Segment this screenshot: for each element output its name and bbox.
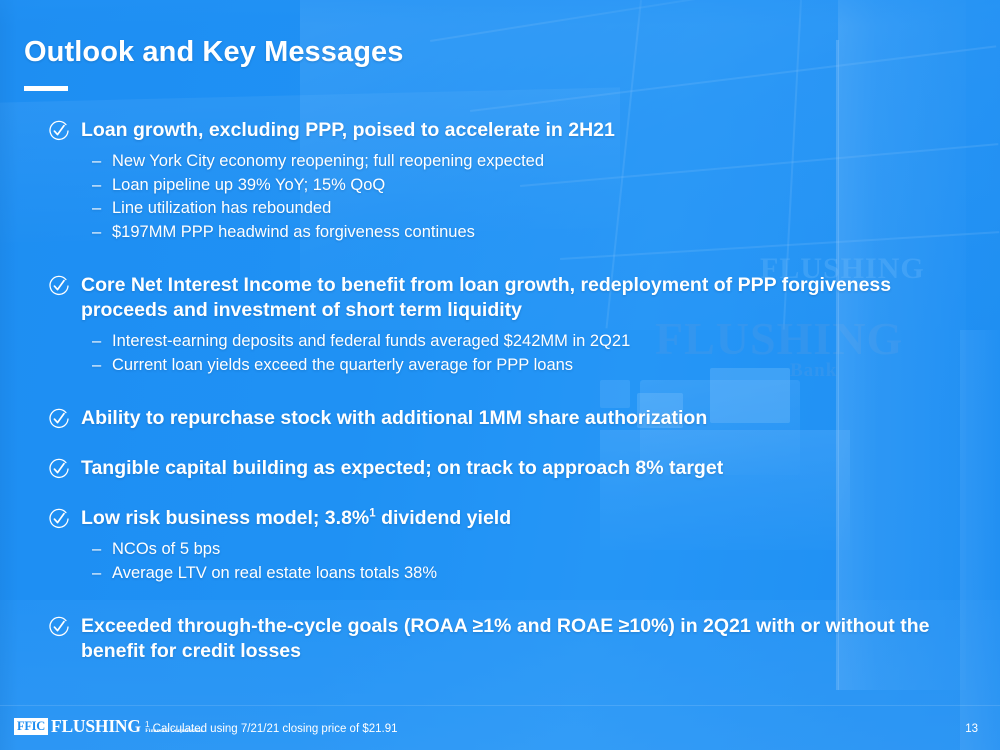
bullet-item: Loan growth, excluding PPP, poised to ac… [0,118,1000,143]
sub-bullet-item: –Average LTV on real estate loans totals… [0,562,1000,586]
bullet-text: Loan growth, excluding PPP, poised to ac… [81,118,615,143]
bullet-group-3: Ability to repurchase stock with additio… [0,406,1000,431]
logo-name: FLUSHING [51,716,141,736]
sub-bullet-item: –NCOs of 5 bps [0,538,1000,562]
bullet-text-part: Low risk business model; 3.8% [81,507,369,529]
check-circle-icon [48,616,70,638]
sub-bullet-list: –New York City economy reopening; full r… [0,150,1000,244]
page-number: 13 [965,722,978,736]
bullet-group-2: Core Net Interest Income to benefit from… [0,273,1000,377]
bullet-group-4: Tangible capital building as expected; o… [0,456,1000,481]
sub-bullet-text: $197MM PPP headwind as forgiveness conti… [112,223,475,241]
sub-bullet-text: Current loan yields exceed the quarterly… [112,356,573,374]
sub-bullet-item: –Interest-earning deposits and federal f… [0,330,1000,354]
bullet-group-6: Exceeded through-the-cycle goals (ROAA ≥… [0,614,1000,664]
slide-content: Outlook and Key Messages Loan growth, ex… [0,0,1000,750]
check-circle-icon [48,508,70,530]
bullet-item: Tangible capital building as expected; o… [0,456,1000,481]
footnote: 1 Calculated using 7/21/21 closing price… [145,722,398,736]
bullet-text: Core Net Interest Income to benefit from… [81,273,960,323]
sub-bullet-item: –New York City economy reopening; full r… [0,150,1000,174]
sub-bullet-list: –NCOs of 5 bps –Average LTV on real esta… [0,538,1000,585]
check-circle-icon [48,408,70,430]
sub-bullet-text: Average LTV on real estate loans totals … [112,564,437,582]
sub-bullet-text: NCOs of 5 bps [112,540,220,558]
bullet-group-1: Loan growth, excluding PPP, poised to ac… [0,118,1000,244]
check-circle-icon [48,120,70,142]
bullet-item: Exceeded through-the-cycle goals (ROAA ≥… [0,614,1000,664]
dash-marker: – [92,150,101,174]
sub-bullet-item: –$197MM PPP headwind as forgiveness cont… [0,221,1000,245]
spacer [0,481,1000,506]
footer-divider [0,705,1000,706]
bullet-text-part: dividend yield [376,507,511,529]
title-underline-rule [24,86,68,91]
bullet-text: Exceeded through-the-cycle goals (ROAA ≥… [81,614,960,664]
bullet-item: Ability to repurchase stock with additio… [0,406,1000,431]
dash-marker: – [92,197,101,221]
dash-marker: – [92,562,101,586]
dash-marker: – [92,354,101,378]
logo-ticker-badge: FFIC [14,718,48,735]
sub-bullet-text: New York City economy reopening; full re… [112,152,544,170]
bullet-item: Low risk business model; 3.8%1 dividend … [0,506,1000,531]
dash-marker: – [92,538,101,562]
bullet-text: Low risk business model; 3.8%1 dividend … [81,506,511,531]
sub-bullet-text: Loan pipeline up 39% YoY; 15% QoQ [112,176,385,194]
spacer [0,585,1000,614]
spacer [0,377,1000,406]
bullet-group-5: Low risk business model; 3.8%1 dividend … [0,506,1000,585]
dash-marker: – [92,174,101,198]
sub-bullet-text: Interest-earning deposits and federal fu… [112,332,630,350]
bullet-text: Tangible capital building as expected; o… [81,456,723,481]
page-title: Outlook and Key Messages [24,36,404,69]
sub-bullet-item: –Current loan yields exceed the quarterl… [0,354,1000,378]
bullet-item: Core Net Interest Income to benefit from… [0,273,1000,323]
slide-outlook-and-key-messages: FLUSHING FLUSHING Bank Outlook and Key M… [0,0,1000,750]
sub-bullet-item: –Loan pipeline up 39% YoY; 15% QoQ [0,174,1000,198]
check-circle-icon [48,275,70,297]
dash-marker: – [92,221,101,245]
spacer [0,431,1000,456]
spacer [0,244,1000,273]
sub-bullet-text: Line utilization has rebounded [112,199,331,217]
bullet-list: Loan growth, excluding PPP, poised to ac… [0,118,1000,664]
check-circle-icon [48,458,70,480]
dash-marker: – [92,330,101,354]
footnote-text: Calculated using 7/21/21 closing price o… [149,723,397,735]
sub-bullet-item: –Line utilization has rebounded [0,197,1000,221]
bullet-text: Ability to repurchase stock with additio… [81,406,707,431]
sub-bullet-list: –Interest-earning deposits and federal f… [0,330,1000,377]
